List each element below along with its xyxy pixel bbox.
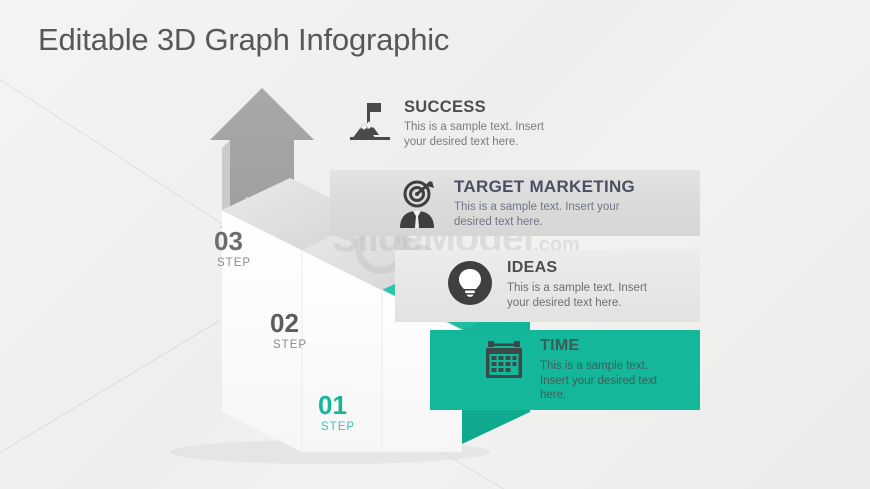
step-number-02: 02 [270,308,299,338]
step-label-03: 03 STEP [214,226,251,269]
panel-success-body: This is a sample text. Insert your desir… [404,120,554,149]
panel-ideas-body: This is a sample text. Insert your desir… [507,281,657,310]
panel-time[interactable]: TIME This is a sample text. Insert your … [430,330,700,410]
panel-time-title: TIME [540,338,700,355]
step-number-03: 03 [214,226,243,256]
panel-success-title: SUCCESS [404,99,700,116]
calendar-icon [482,338,526,382]
step-label-02: 02 STEP [270,308,307,351]
step-number-01: 01 [318,390,347,420]
panel-time-text: TIME This is a sample text. Insert your … [540,338,700,403]
target-businessman-icon [394,180,440,228]
panel-ideas-text: IDEAS This is a sample text. Insert your… [507,260,700,310]
step-label-01: 01 STEP [318,390,355,433]
staircase-3d-graphic: 03 STEP 02 STEP 01 STEP [0,0,870,489]
panel-target-marketing[interactable]: TARGET MARKETING This is a sample text. … [330,170,700,236]
step-word-03: STEP [217,257,251,269]
mountain-flag-icon [350,99,390,143]
growth-arrow-icon [210,88,314,286]
panel-ideas-title: IDEAS [507,260,700,277]
panel-success-text: SUCCESS This is a sample text. Insert yo… [404,99,700,150]
panel-target-body: This is a sample text. Insert your desir… [454,200,629,229]
step-word-01: STEP [321,421,355,433]
panel-target-text: TARGET MARKETING This is a sample text. … [454,178,700,229]
background-diagonal-line [0,274,296,471]
panel-time-body: This is a sample text. Insert your desir… [540,359,660,403]
panel-target-title: TARGET MARKETING [454,178,700,196]
slide-canvas: Editable 3D Graph Infographic [0,0,870,489]
panel-success[interactable]: SUCCESS This is a sample text. Insert yo… [332,95,700,157]
step-word-02: STEP [273,339,307,351]
panel-ideas[interactable]: IDEAS This is a sample text. Insert your… [395,250,700,322]
page-title: Editable 3D Graph Infographic [38,22,449,58]
lightbulb-icon [447,260,493,306]
